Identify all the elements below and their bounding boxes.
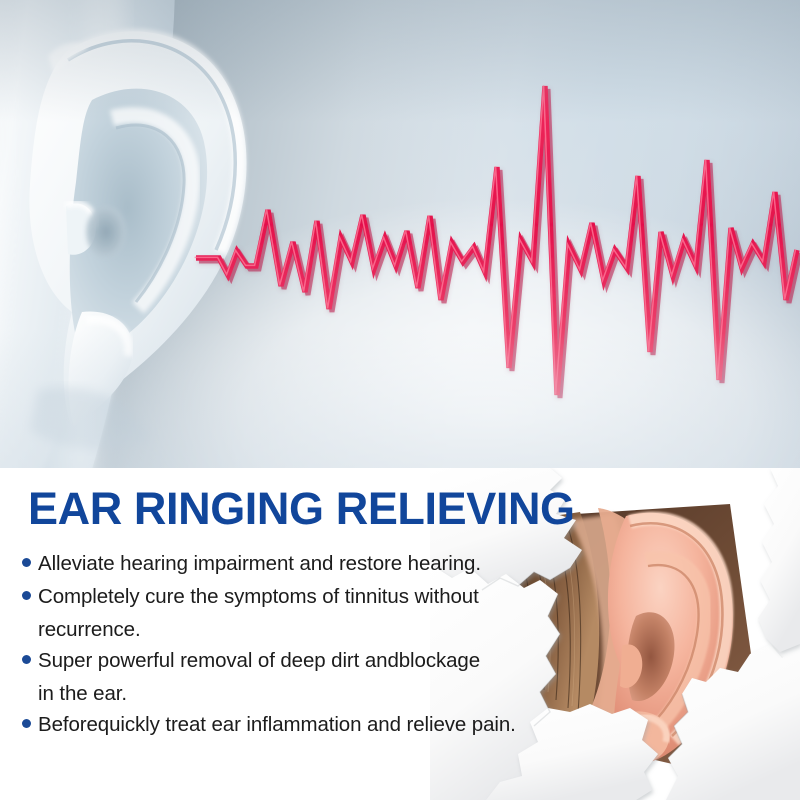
list-item: Super powerful removal of deep dirt andb… [22,645,542,709]
list-item: Completely cure the symptoms of tinnitus… [22,581,542,645]
bullet-dot-icon [22,719,31,728]
list-item-label: Beforequickly treat ear inflammation and… [38,709,516,740]
list-item-label: Super powerful removal of deep dirt andb… [38,645,480,676]
page-title: EAR RINGING RELIEVING [28,486,575,532]
list-item-label-continued: in the ear. [38,678,542,709]
list-item: Alleviate hearing impairment and restore… [22,548,542,579]
hero-vignette [0,0,800,470]
product-infographic: EAR RINGING RELIEVING Alleviate hearing … [0,0,800,800]
bullet-dot-icon [22,655,31,664]
list-item-label-continued: recurrence. [38,614,542,645]
hero-image [0,0,800,470]
list-item-label: Alleviate hearing impairment and restore… [38,548,481,579]
feature-list: Alleviate hearing impairment and restore… [22,548,542,742]
bullet-dot-icon [22,558,31,567]
bullet-dot-icon [22,591,31,600]
list-item: Beforequickly treat ear inflammation and… [22,709,542,740]
list-item-label: Completely cure the symptoms of tinnitus… [38,581,479,612]
info-panel: EAR RINGING RELIEVING Alleviate hearing … [0,468,800,800]
